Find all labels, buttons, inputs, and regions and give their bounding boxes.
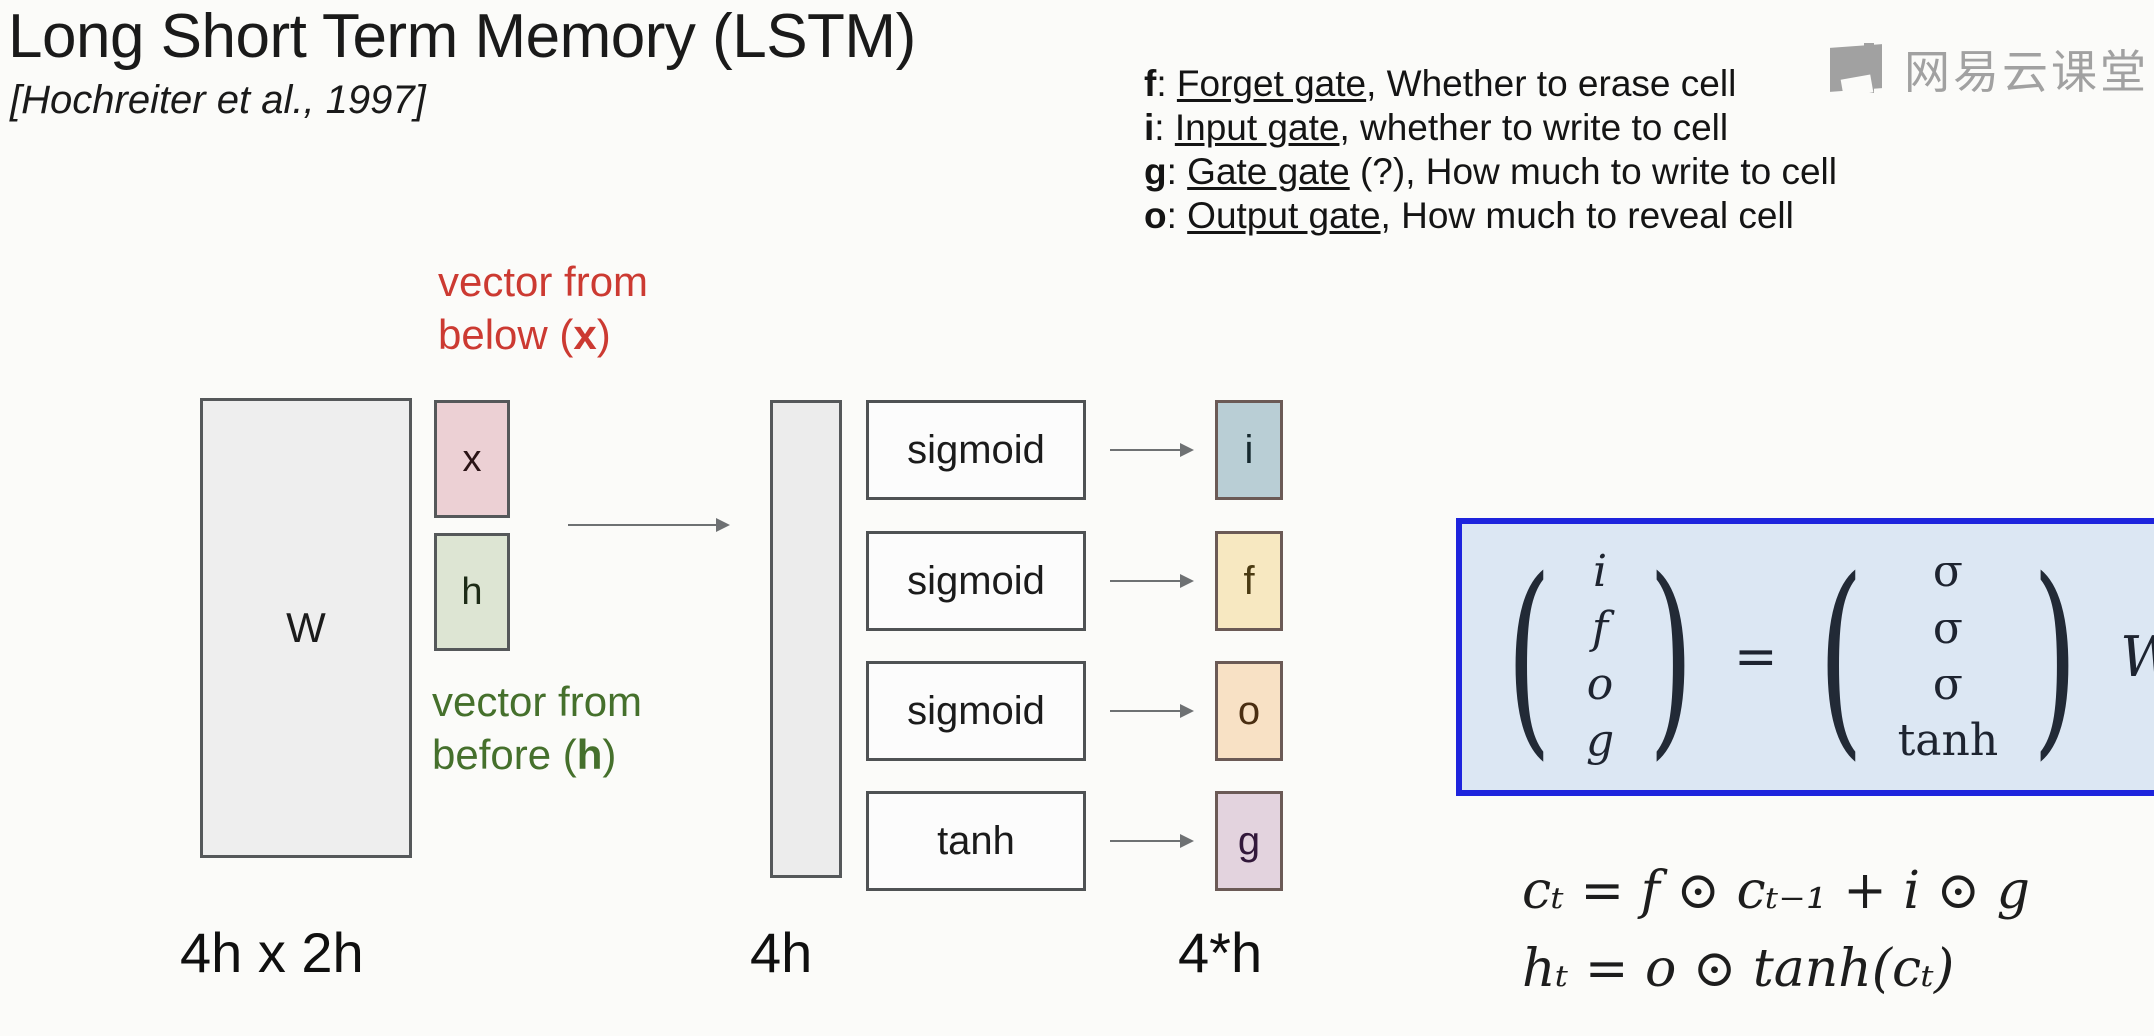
output-cell-f-label: f bbox=[1243, 559, 1254, 604]
lhs-vec-g: g bbox=[1586, 713, 1614, 769]
gate-desc: , whether to write to cell bbox=[1339, 107, 1728, 148]
page-title: Long Short Term Memory (LSTM) bbox=[8, 4, 916, 69]
citation-text: [Hochreiter et al., 1997] bbox=[10, 78, 426, 123]
equals-sign: = bbox=[1734, 627, 1778, 687]
lhs-gate-vector: i f o g bbox=[1586, 544, 1614, 769]
gate-name: Input gate bbox=[1175, 107, 1340, 148]
activation-box-sigmoid-o: sigmoid bbox=[866, 661, 1086, 761]
annotation-line2: before (h) bbox=[432, 728, 642, 781]
output-cell-o-label: o bbox=[1238, 689, 1260, 734]
output-cell-g-label: g bbox=[1238, 819, 1260, 864]
lstm-matrix-equation-box: ( i f o g ) = ( σ σ σ tanh ) W ( ht−1 xt bbox=[1456, 518, 2154, 796]
annotation-line2-post: ) bbox=[602, 731, 616, 778]
dimension-label-w: 4h x 2h bbox=[180, 920, 364, 985]
act-vec-2: σ bbox=[1933, 657, 1963, 713]
input-cell-h: h bbox=[434, 533, 510, 651]
activation-label: tanh bbox=[937, 819, 1015, 864]
output-cell-g: g bbox=[1215, 791, 1283, 891]
gate-legend-line: o: Output gate, How much to reveal cell bbox=[1144, 194, 2124, 238]
annotation-vector-before: vector from before (h) bbox=[432, 675, 642, 781]
weight-matrix-label: W bbox=[286, 604, 326, 652]
gate-desc: (?), How much to write to cell bbox=[1350, 151, 1837, 192]
annotation-line1: vector from bbox=[438, 255, 648, 308]
annotation-line2: below (x) bbox=[438, 308, 648, 361]
input-cell-h-label: h bbox=[461, 571, 482, 614]
output-cell-i: i bbox=[1215, 400, 1283, 500]
lstm-matrix-equation: ( i f o g ) = ( σ σ σ tanh ) W ( ht−1 xt bbox=[1488, 524, 2154, 790]
annotation-vector-below: vector from below (x) bbox=[438, 255, 648, 361]
gate-legend-line: g: Gate gate (?), How much to write to c… bbox=[1144, 150, 2124, 194]
gate-sep: : bbox=[1154, 107, 1175, 148]
gate-desc: , How much to reveal cell bbox=[1381, 195, 1794, 236]
activation-box-sigmoid-i: sigmoid bbox=[866, 400, 1086, 500]
gate-desc: , Whether to erase cell bbox=[1366, 63, 1736, 104]
gate-key: o bbox=[1144, 195, 1167, 236]
annotation-line2-pre: below ( bbox=[438, 311, 573, 358]
gate-sep: : bbox=[1167, 151, 1188, 192]
lhs-vec-f: f bbox=[1592, 601, 1608, 657]
lhs-vec-o: o bbox=[1587, 657, 1614, 713]
lhs-vec-i: i bbox=[1593, 544, 1607, 600]
arrow-sigmoid-to-f bbox=[1110, 580, 1192, 582]
input-cell-x: x bbox=[434, 400, 510, 518]
output-cell-o: o bbox=[1215, 661, 1283, 761]
lstm-slide: Long Short Term Memory (LSTM) [Hochreite… bbox=[0, 0, 2154, 1036]
arrow-sigmoid-to-o bbox=[1110, 710, 1192, 712]
left-paren-close-icon: ) bbox=[1649, 592, 1694, 722]
annotation-line1: vector from bbox=[432, 675, 642, 728]
gate-legend: f: Forget gate, Whether to erase cell i:… bbox=[1144, 62, 2124, 238]
act-vec-0: σ bbox=[1933, 544, 1963, 600]
equation-cell-state: cₜ = f ⊙ cₜ₋₁ + i ⊙ g bbox=[1522, 852, 2030, 930]
weight-matrix-box: W bbox=[200, 398, 412, 858]
activation-vector: σ σ σ tanh bbox=[1898, 544, 1999, 769]
preactivation-column-4h bbox=[770, 400, 842, 878]
gate-legend-line: f: Forget gate, Whether to erase cell bbox=[1144, 62, 2124, 106]
gate-legend-line: i: Input gate, whether to write to cell bbox=[1144, 106, 2124, 150]
activation-box-tanh-g: tanh bbox=[866, 791, 1086, 891]
dimension-label-4h: 4h bbox=[750, 920, 812, 985]
annotation-line2-post: ) bbox=[597, 311, 611, 358]
gate-sep: : bbox=[1156, 63, 1177, 104]
left-paren-open-icon: ( bbox=[1506, 592, 1551, 722]
activation-label: sigmoid bbox=[907, 689, 1045, 734]
activation-label: sigmoid bbox=[907, 428, 1045, 473]
mid-paren-open-icon: ( bbox=[1818, 592, 1863, 722]
gate-name: Output gate bbox=[1187, 195, 1380, 236]
gate-sep: : bbox=[1167, 195, 1188, 236]
gate-key: i bbox=[1144, 107, 1154, 148]
gate-name: Forget gate bbox=[1177, 63, 1366, 104]
act-vec-3: tanh bbox=[1898, 713, 1999, 769]
arrow-w-to-4h bbox=[568, 524, 728, 526]
gate-key: g bbox=[1144, 151, 1167, 192]
cell-state-equations: cₜ = f ⊙ cₜ₋₁ + i ⊙ g hₜ = o ⊙ tanh(cₜ) bbox=[1522, 852, 2030, 1008]
act-vec-1: σ bbox=[1933, 601, 1963, 657]
arrow-sigmoid-to-i bbox=[1110, 449, 1192, 451]
annotation-symbol-h: h bbox=[577, 731, 603, 778]
gate-name: Gate gate bbox=[1187, 151, 1350, 192]
arrow-tanh-to-g bbox=[1110, 840, 1192, 842]
annotation-symbol-x: x bbox=[573, 311, 596, 358]
activation-label: sigmoid bbox=[907, 559, 1045, 604]
output-cell-f: f bbox=[1215, 531, 1283, 631]
annotation-line2-pre: before ( bbox=[432, 731, 577, 778]
weight-matrix-symbol: W bbox=[2120, 625, 2154, 690]
equation-hidden-state: hₜ = o ⊙ tanh(cₜ) bbox=[1522, 930, 2030, 1008]
gate-key: f bbox=[1144, 63, 1156, 104]
input-cell-x-label: x bbox=[463, 438, 482, 481]
mid-paren-close-icon: ) bbox=[2033, 592, 2078, 722]
activation-box-sigmoid-f: sigmoid bbox=[866, 531, 1086, 631]
output-cell-i-label: i bbox=[1245, 428, 1254, 473]
dimension-label-4-times-h: 4*h bbox=[1178, 920, 1262, 985]
